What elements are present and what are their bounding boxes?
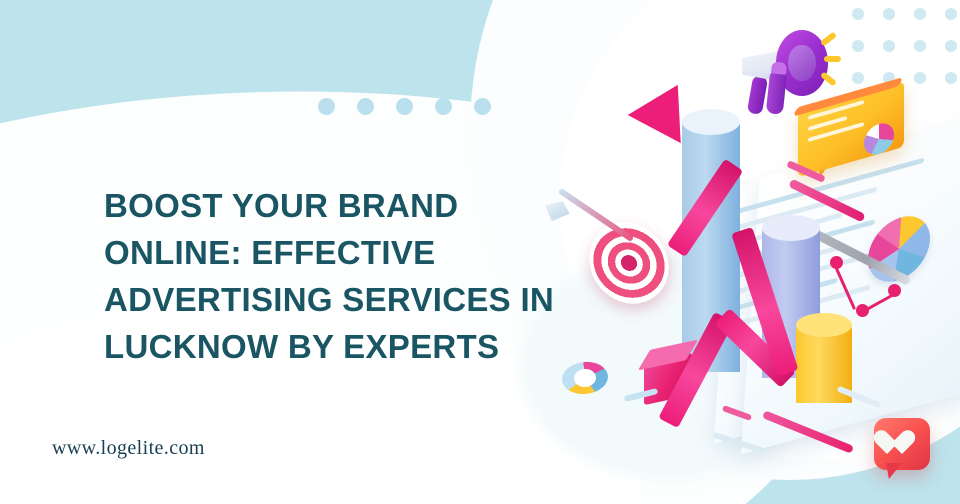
bar-top-face (796, 313, 852, 337)
decorative-dot (435, 98, 452, 115)
website-url[interactable]: www.logelite.com (52, 437, 205, 460)
decorative-dot (318, 98, 335, 115)
decorative-dot (357, 98, 374, 115)
sound-ray (820, 31, 837, 46)
megaphone-handle (747, 75, 768, 115)
headline-line-1: BOOST YOUR BRAND (104, 183, 604, 230)
network-node (830, 256, 843, 269)
marketing-banner: BOOST YOUR BRAND ONLINE: EFFECTIVE ADVER… (0, 0, 960, 504)
decorative-dot (474, 98, 491, 115)
headline-line-4: LUCKNOW BY EXPERTS (104, 324, 604, 371)
network-link (835, 267, 856, 310)
speech-bubble-card-icon (798, 96, 904, 180)
decorative-dot (396, 98, 413, 115)
network-node (856, 304, 869, 317)
network-node (888, 284, 901, 297)
heart-icon (887, 431, 915, 457)
marketing-illustration (540, 0, 960, 504)
decorative-dot-row (318, 98, 491, 115)
page-title: BOOST YOUR BRAND ONLINE: EFFECTIVE ADVER… (104, 183, 604, 370)
headline-line-3: ADVERTISING SERVICES IN (104, 277, 604, 324)
megaphone-sound-burst (820, 32, 860, 94)
dart-fletching-icon (542, 197, 573, 225)
dart-arrow-icon (558, 188, 634, 242)
headline-line-2: ONLINE: EFFECTIVE (104, 230, 604, 277)
like-heart-badge-icon (874, 418, 930, 470)
donut-chart-icon (560, 360, 609, 397)
sound-ray (820, 71, 837, 86)
sound-ray (824, 56, 841, 62)
bar-top-face (762, 215, 820, 241)
